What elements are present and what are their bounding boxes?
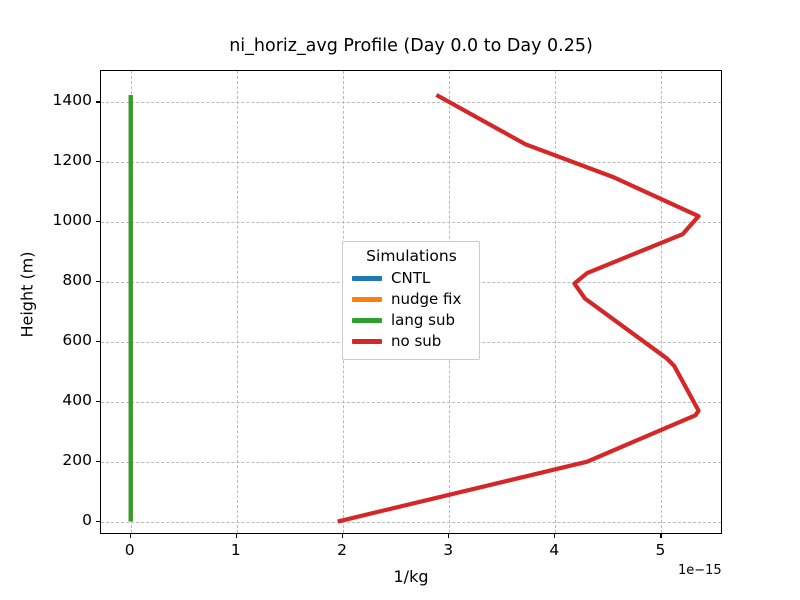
y-axis-label: Height (m) [18,185,37,405]
x-tick-mark-2 [342,534,343,538]
y-tick-label-7: 1400 [22,91,92,109]
y-tick-mark-5 [96,221,100,222]
x-tick-mark-0 [130,534,131,538]
legend-item-no-sub[interactable]: no sub [352,331,471,352]
legend-item-cntl[interactable]: CNTL [352,268,471,289]
x-tick-label-1: 1 [206,541,266,559]
y-tick-mark-7 [96,101,100,102]
legend-item-nudge-fix[interactable]: nudge fix [352,289,471,310]
legend-title: Simulations [352,247,471,265]
x-axis-offset-text: 1e−15 [678,563,722,578]
legend-swatch-icon [352,276,382,280]
legend-swatch-icon [352,318,382,322]
chart-title: ni_horiz_avg Profile (Day 0.0 to Day 0.2… [100,36,722,56]
x-tick-label-4: 4 [524,541,584,559]
y-tick-mark-6 [96,161,100,162]
x-tick-mark-5 [660,534,661,538]
y-tick-mark-4 [96,281,100,282]
legend-swatch-icon [352,339,382,343]
legend-swatch-icon [352,297,382,301]
legend-label: nudge fix [391,292,461,307]
legend-item-lang-sub[interactable]: lang sub [352,310,471,331]
y-tick-label-1: 200 [22,451,92,469]
y-tick-mark-2 [96,401,100,402]
x-tick-label-3: 3 [418,541,478,559]
x-tick-mark-1 [236,534,237,538]
legend-box[interactable]: Simulations CNTLnudge fixlang subno sub [342,241,480,360]
legend-label: CNTL [391,271,430,286]
y-tick-label-0: 0 [22,511,92,529]
legend-label: no sub [391,334,441,349]
x-tick-label-0: 0 [100,541,160,559]
legend-label: lang sub [391,313,455,328]
x-tick-label-2: 2 [312,541,372,559]
y-tick-mark-0 [96,521,100,522]
x-tick-mark-3 [448,534,449,538]
x-axis-label: 1/kg [100,567,722,586]
x-tick-mark-4 [554,534,555,538]
y-tick-label-6: 1200 [22,151,92,169]
figure-canvas: ni_horiz_avg Profile (Day 0.0 to Day 0.2… [0,0,800,600]
y-tick-mark-1 [96,461,100,462]
y-tick-mark-3 [96,341,100,342]
legend-items: CNTLnudge fixlang subno sub [352,268,471,352]
x-tick-label-5: 5 [630,541,690,559]
